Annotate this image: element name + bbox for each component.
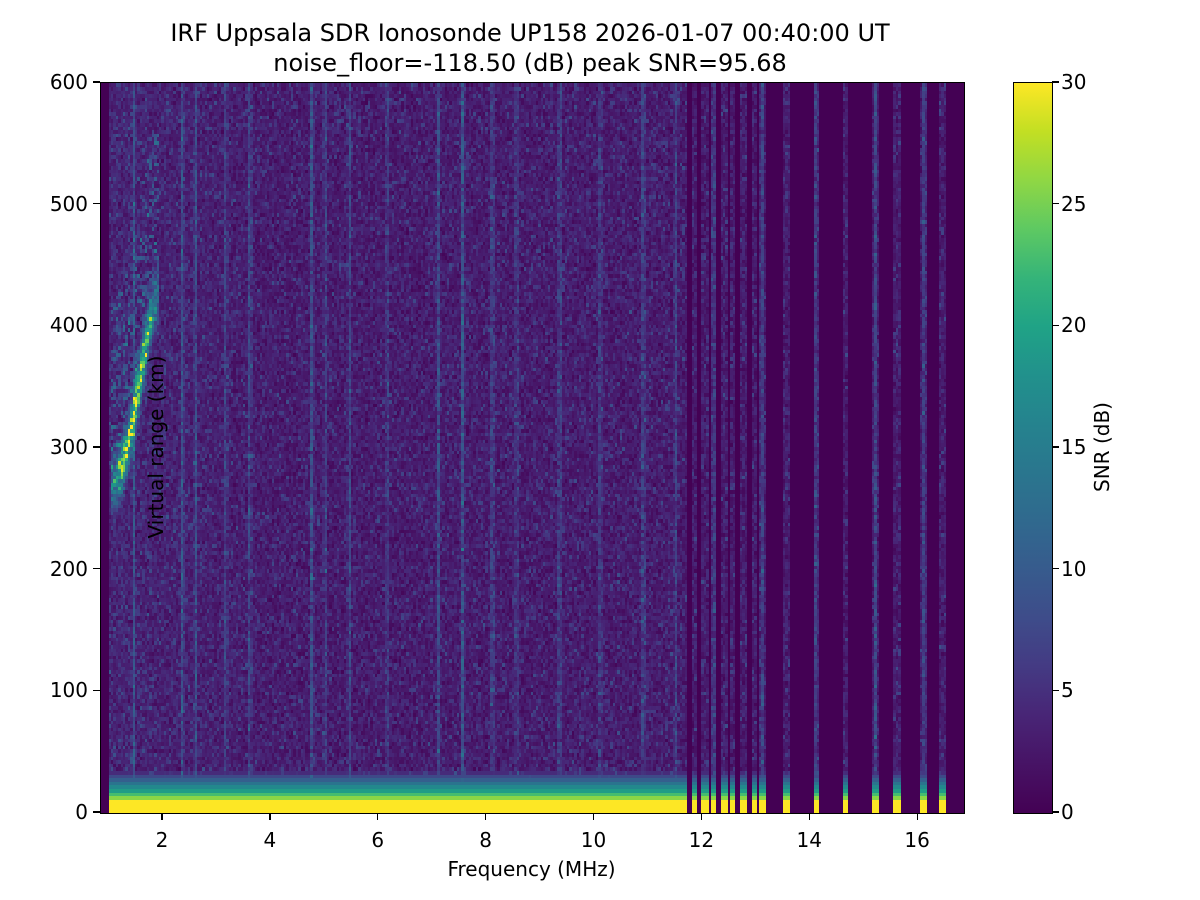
x-tick-label: 16 (877, 830, 957, 850)
y-tick-label: 100 (0, 680, 88, 700)
x-tick-label: 10 (554, 830, 634, 850)
x-tick-label: 4 (230, 830, 310, 850)
y-tick-label: 0 (0, 802, 88, 822)
y-tick-label: 500 (0, 194, 88, 214)
colorbar-tick-label: 25 (1061, 194, 1086, 214)
colorbar-tick-label: 30 (1061, 72, 1086, 92)
x-axis-label: Frequency (MHz) (100, 857, 963, 881)
y-tick-label: 400 (0, 315, 88, 335)
colorbar-tick-mark (1052, 446, 1059, 447)
y-axis-label: Virtual range (km) (144, 297, 168, 597)
x-tick-label: 14 (769, 830, 849, 850)
colorbar-tick-label: 5 (1061, 680, 1074, 700)
colorbar-tick-mark (1052, 568, 1059, 569)
colorbar-tick-label: 10 (1061, 559, 1086, 579)
y-tick-mark (93, 203, 100, 204)
x-tick-mark (917, 813, 918, 820)
figure-title: IRF Uppsala SDR Ionosonde UP158 2026-01-… (0, 18, 1060, 78)
colorbar (1013, 82, 1053, 814)
y-tick-mark (93, 446, 100, 447)
y-tick-mark (93, 325, 100, 326)
ionogram-figure: IRF Uppsala SDR Ionosonde UP158 2026-01-… (0, 0, 1200, 900)
y-tick-mark (93, 568, 100, 569)
colorbar-tick-label: 15 (1061, 437, 1086, 457)
colorbar-label: SNR (dB) (1090, 297, 1114, 597)
colorbar-tick-mark (1052, 690, 1059, 691)
x-tick-label: 12 (661, 830, 741, 850)
x-tick-mark (161, 813, 162, 820)
ionogram-heatmap[interactable] (100, 82, 965, 814)
x-tick-label: 2 (122, 830, 202, 850)
x-tick-label: 6 (338, 830, 418, 850)
colorbar-tick-mark (1052, 811, 1059, 812)
x-tick-mark (269, 813, 270, 820)
colorbar-tick-label: 20 (1061, 315, 1086, 335)
colorbar-tick-label: 0 (1061, 802, 1074, 822)
colorbar-tick-mark (1052, 203, 1059, 204)
x-tick-mark (809, 813, 810, 820)
x-tick-mark (593, 813, 594, 820)
x-tick-label: 8 (446, 830, 526, 850)
y-tick-label: 300 (0, 437, 88, 457)
y-tick-mark (93, 690, 100, 691)
colorbar-tick-mark (1052, 325, 1059, 326)
x-tick-mark (377, 813, 378, 820)
y-tick-label: 600 (0, 72, 88, 92)
title-line-1: IRF Uppsala SDR Ionosonde UP158 2026-01-… (170, 19, 889, 47)
colorbar-tick-mark (1052, 81, 1059, 82)
y-tick-mark (93, 811, 100, 812)
x-tick-mark (485, 813, 486, 820)
y-tick-label: 200 (0, 559, 88, 579)
y-tick-mark (93, 81, 100, 82)
title-line-2: noise_floor=-118.50 (dB) peak SNR=95.68 (0, 48, 1060, 78)
heatmap-canvas (101, 83, 964, 813)
x-tick-mark (701, 813, 702, 820)
